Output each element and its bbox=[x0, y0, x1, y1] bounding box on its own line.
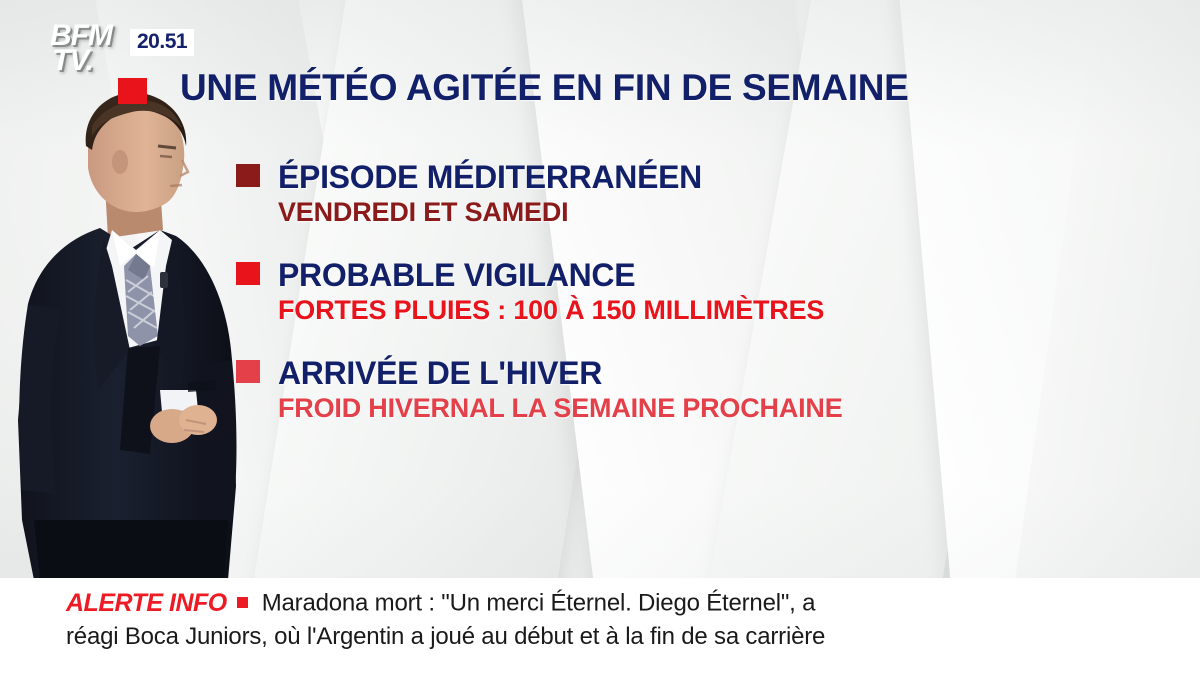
list-item: ARRIVÉE DE L'HIVER FROID HIVERNAL LA SEM… bbox=[236, 356, 1196, 423]
ticker-line-1: ALERTE INFOMaradona mort : "Un merci Éte… bbox=[66, 589, 1170, 618]
channel-branding: BFM TV. 20.51 bbox=[50, 24, 200, 86]
list-item-subtitle: FROID HIVERNAL LA SEMAINE PROCHAINE bbox=[278, 393, 1196, 423]
red-square-icon bbox=[236, 360, 260, 383]
list-item: PROBABLE VIGILANCE FORTES PLUIES : 100 À… bbox=[236, 258, 1196, 325]
list-item-text: PROBABLE VIGILANCE FORTES PLUIES : 100 À… bbox=[278, 258, 1196, 325]
red-square-icon bbox=[236, 164, 260, 187]
list-item-text: ÉPISODE MÉDITERRANÉEN VENDREDI ET SAMEDI bbox=[278, 160, 1196, 227]
list-item-subtitle: VENDREDI ET SAMEDI bbox=[278, 197, 1196, 227]
bfm-logo: BFM TV. bbox=[50, 24, 112, 73]
ticker-text-line1: Maradona mort : "Un merci Éternel. Diego… bbox=[262, 590, 816, 617]
news-ticker: ALERTE INFOMaradona mort : "Un merci Éte… bbox=[0, 578, 1200, 675]
list-item-title: ÉPISODE MÉDITERRANÉEN bbox=[278, 160, 1196, 196]
status-badge: ALERTE INFO bbox=[66, 589, 227, 618]
red-square-bullet-icon bbox=[237, 597, 248, 608]
list-item-title: PROBABLE VIGILANCE bbox=[278, 258, 1196, 294]
list-item-title: ARRIVÉE DE L'HIVER bbox=[278, 356, 1196, 392]
presenter-figure bbox=[0, 90, 250, 580]
presenter bbox=[0, 90, 250, 580]
page-title: UNE MÉTÉO AGITÉE EN FIN DE SEMAINE bbox=[180, 67, 909, 109]
list-item: ÉPISODE MÉDITERRANÉEN VENDREDI ET SAMEDI bbox=[236, 160, 1196, 227]
on-air-clock: 20.51 bbox=[130, 29, 194, 56]
ticker-text-line2: réagi Boca Juniors, où l'Argentin a joué… bbox=[66, 623, 1170, 651]
broadcast-screen: BFM TV. 20.51 UNE MÉTÉO AGITÉE EN FIN DE… bbox=[0, 0, 1200, 675]
bfm-logo-dot: . bbox=[86, 44, 93, 77]
list-item-text: ARRIVÉE DE L'HIVER FROID HIVERNAL LA SEM… bbox=[278, 356, 1196, 423]
bfm-logo-line2: TV. bbox=[50, 49, 112, 74]
list-item-subtitle: FORTES PLUIES : 100 À 150 MILLIMÈTRES bbox=[278, 295, 1196, 325]
bfm-logo-tv-text: TV bbox=[52, 44, 86, 77]
ticker-content: ALERTE INFOMaradona mort : "Un merci Éte… bbox=[66, 589, 1170, 651]
headline-bullet-list: ÉPISODE MÉDITERRANÉEN VENDREDI ET SAMEDI… bbox=[236, 160, 1196, 454]
red-square-icon bbox=[236, 262, 260, 285]
